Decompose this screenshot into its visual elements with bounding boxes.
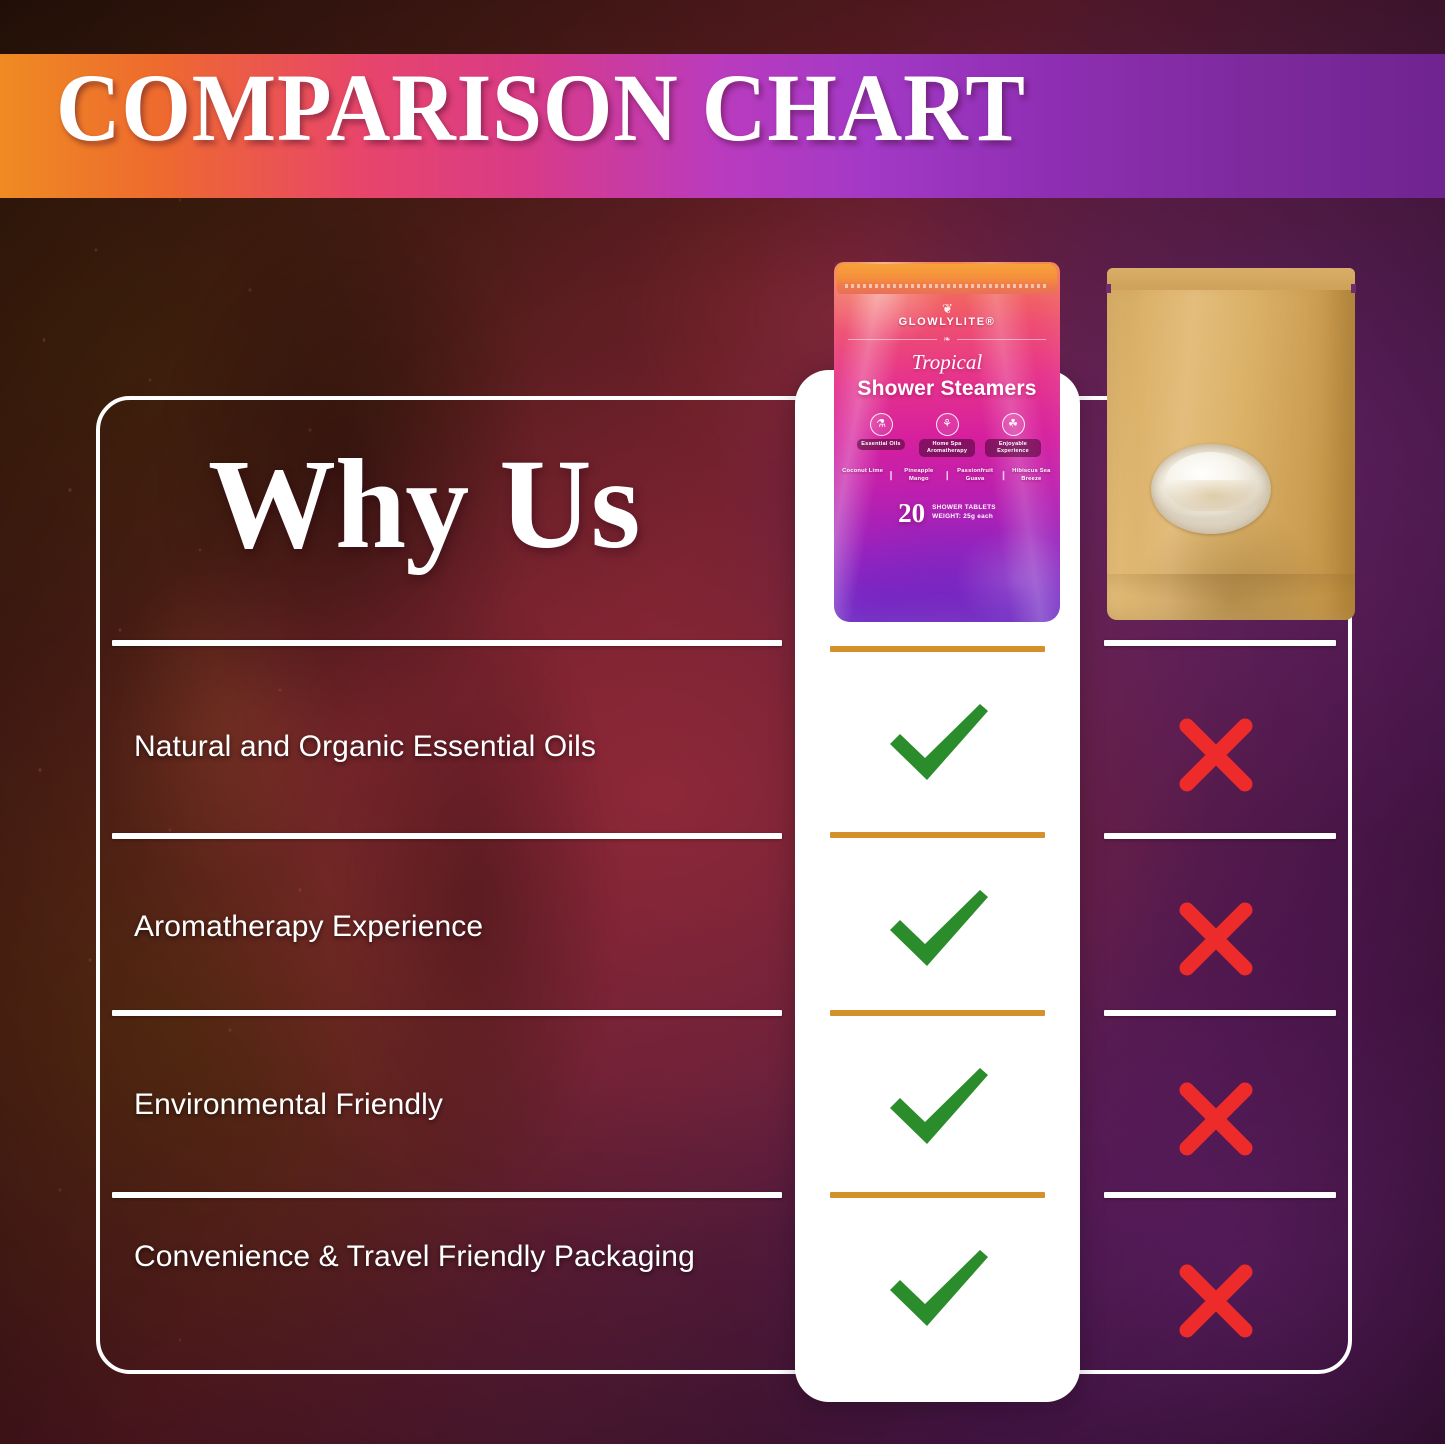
product-brand: GLOWLYLITE® (834, 316, 1060, 328)
green-check-icon (884, 886, 992, 970)
red-cross-icon (1175, 714, 1257, 796)
row-divider (1104, 1010, 1336, 1016)
green-check-icon (884, 1064, 992, 1148)
row-divider (112, 1010, 782, 1016)
cross-cell (1080, 714, 1352, 796)
row-divider (112, 640, 782, 646)
feature-label: Convenience & Travel Friendly Packaging (134, 1238, 734, 1276)
check-cell (795, 886, 1080, 970)
feature-column: Natural and Organic Essential Oils Aroma… (96, 396, 796, 1374)
ornament-flourish-icon: ❦ (834, 302, 1060, 315)
row-divider (1104, 1192, 1336, 1198)
cross-cell (1080, 1078, 1352, 1160)
green-check-icon (884, 1246, 992, 1330)
kraft-tear-notch-right (1351, 284, 1356, 293)
green-check-icon (884, 700, 992, 784)
row-divider (1104, 833, 1336, 839)
red-cross-icon (1175, 1260, 1257, 1342)
feature-label: Aromatherapy Experience (134, 908, 483, 946)
red-cross-icon (1175, 898, 1257, 980)
red-cross-icon (1175, 1078, 1257, 1160)
feature-label: Natural and Organic Essential Oils (134, 728, 596, 766)
ornament-rule-icon: ❧ (848, 334, 1046, 345)
row-divider (112, 833, 782, 839)
row-divider (112, 1192, 782, 1198)
comparison-chart-page: COMPARISON CHART ❦ GLOWLYLITE® ❧ Tropica… (0, 0, 1445, 1444)
cross-cell (1080, 898, 1352, 980)
center-row-divider (830, 1192, 1045, 1198)
cross-cell (1080, 1260, 1352, 1342)
feature-label: Environmental Friendly (134, 1086, 443, 1124)
page-title: COMPARISON CHART (56, 60, 1026, 156)
competitor-column (1080, 396, 1352, 1374)
check-cell (795, 1246, 1080, 1330)
center-row-divider (830, 646, 1045, 652)
our-product-column (795, 370, 1080, 1402)
kraft-tear-notch-left (1106, 284, 1111, 293)
pouch-zipper (837, 264, 1057, 294)
center-row-divider (830, 832, 1045, 838)
kraft-pouch-top-seal (1107, 268, 1355, 290)
center-row-divider (830, 1010, 1045, 1016)
check-cell (795, 700, 1080, 784)
row-divider (1104, 640, 1336, 646)
check-cell (795, 1064, 1080, 1148)
